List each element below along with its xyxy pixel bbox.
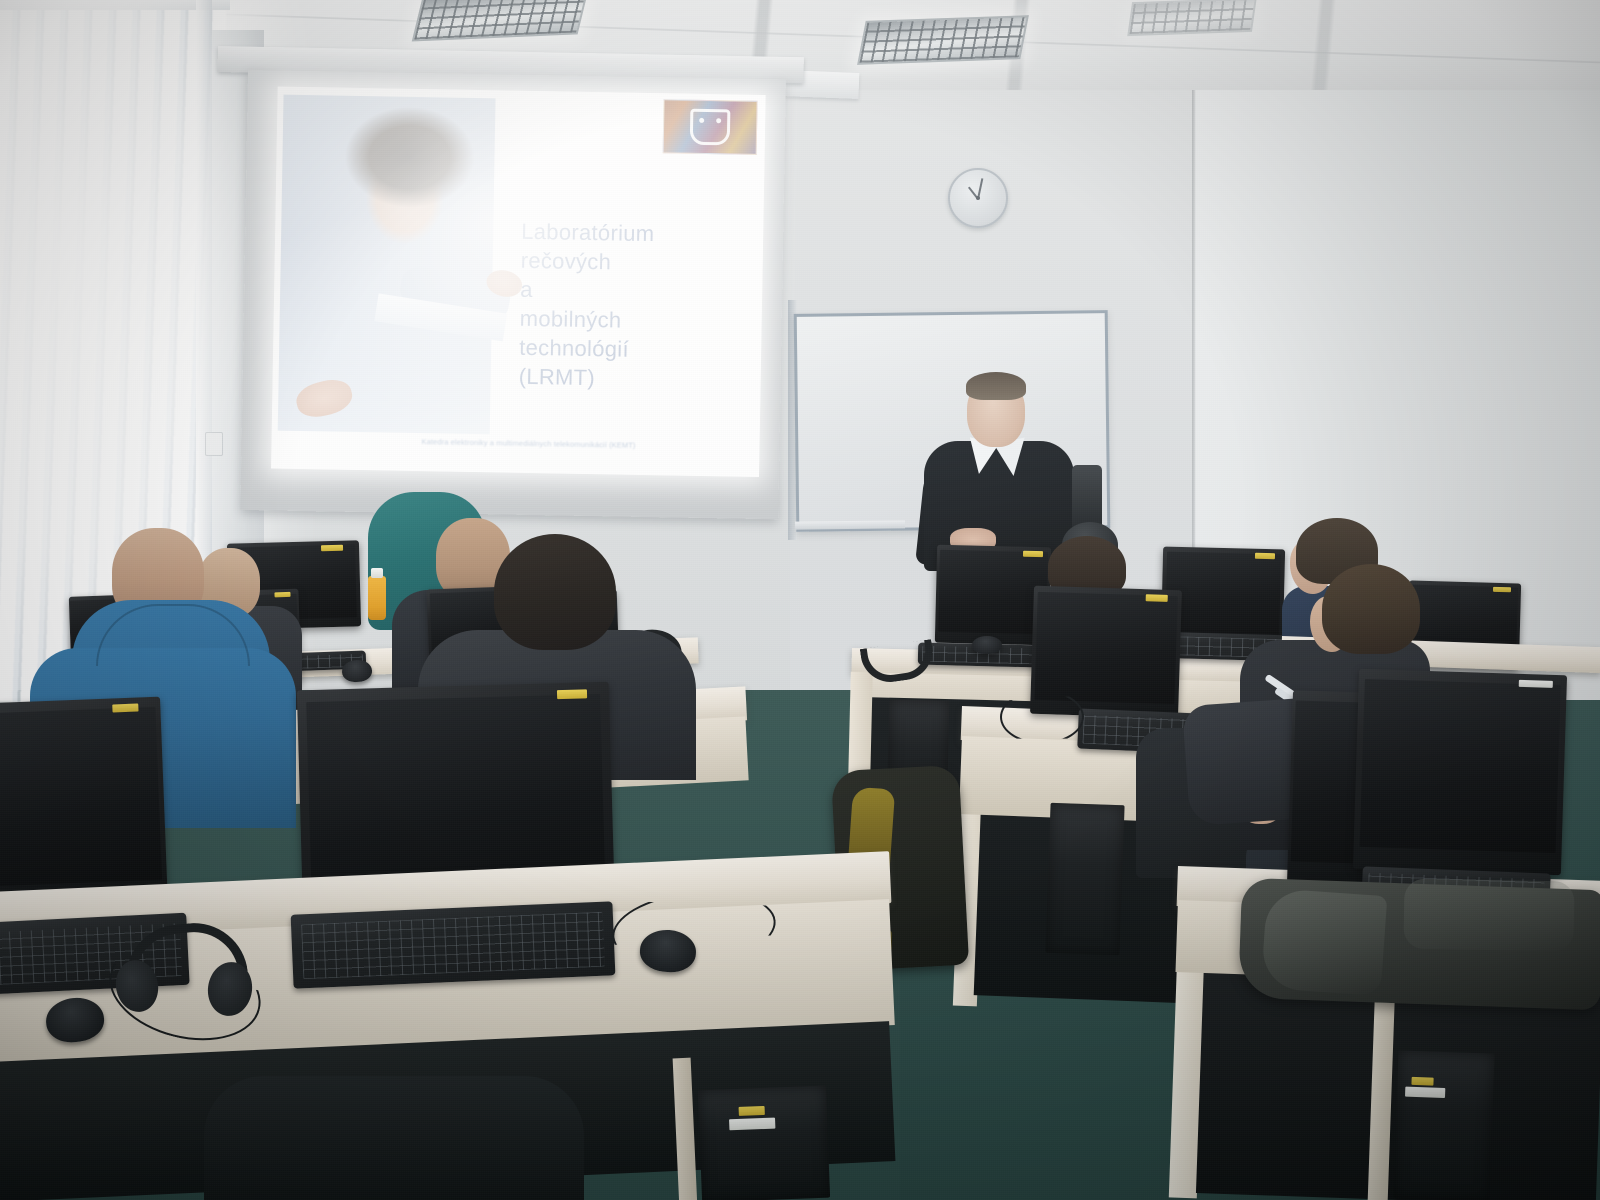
desktop-pc-tower bbox=[1393, 1050, 1494, 1200]
desktop-pc-tower bbox=[1045, 803, 1124, 955]
lab-equipment bbox=[1072, 465, 1102, 529]
ceiling-light-icon bbox=[1127, 0, 1256, 36]
chair[interactable] bbox=[204, 1076, 584, 1200]
jacket-fold bbox=[1403, 879, 1574, 952]
slide-title-line: Laboratórium bbox=[521, 217, 751, 250]
ceiling-light-icon bbox=[857, 15, 1029, 65]
slide-photo bbox=[278, 95, 496, 435]
lcd-monitor bbox=[1353, 669, 1567, 875]
student-dark-hair-hair bbox=[494, 534, 616, 650]
slide-title-line: technológií bbox=[519, 333, 749, 366]
bottle-cap bbox=[371, 568, 383, 578]
presentation-slide: Laboratórium rečových a mobilných techno… bbox=[271, 87, 766, 477]
projection-screen: Laboratórium rečových a mobilných techno… bbox=[240, 70, 786, 519]
slide-title-line: a bbox=[520, 275, 750, 308]
slide-title-line: (LRMT) bbox=[518, 362, 748, 395]
whiteboard-tray bbox=[795, 520, 905, 529]
jacket-fold bbox=[1261, 888, 1388, 996]
slide-title: Laboratórium rečových a mobilných techno… bbox=[518, 217, 751, 395]
slide-title-line: mobilných bbox=[519, 304, 749, 337]
student-stripes-right-hair bbox=[1322, 564, 1420, 654]
wall-clock-icon bbox=[948, 168, 1008, 228]
classroom-photo: Laboratórium rečových a mobilných techno… bbox=[0, 0, 1600, 1200]
keyboard[interactable] bbox=[291, 901, 616, 988]
slide-title-line: rečových bbox=[520, 246, 750, 279]
juice-bottle[interactable] bbox=[368, 576, 386, 620]
lcd-monitor bbox=[0, 697, 168, 910]
presenter-hair bbox=[966, 372, 1026, 400]
slide-footer: Katedra elektroniky a multimediálnych te… bbox=[421, 437, 751, 452]
university-logo-icon bbox=[663, 99, 758, 155]
desktop-pc-tower bbox=[698, 1086, 830, 1200]
mouse[interactable] bbox=[972, 636, 1002, 654]
